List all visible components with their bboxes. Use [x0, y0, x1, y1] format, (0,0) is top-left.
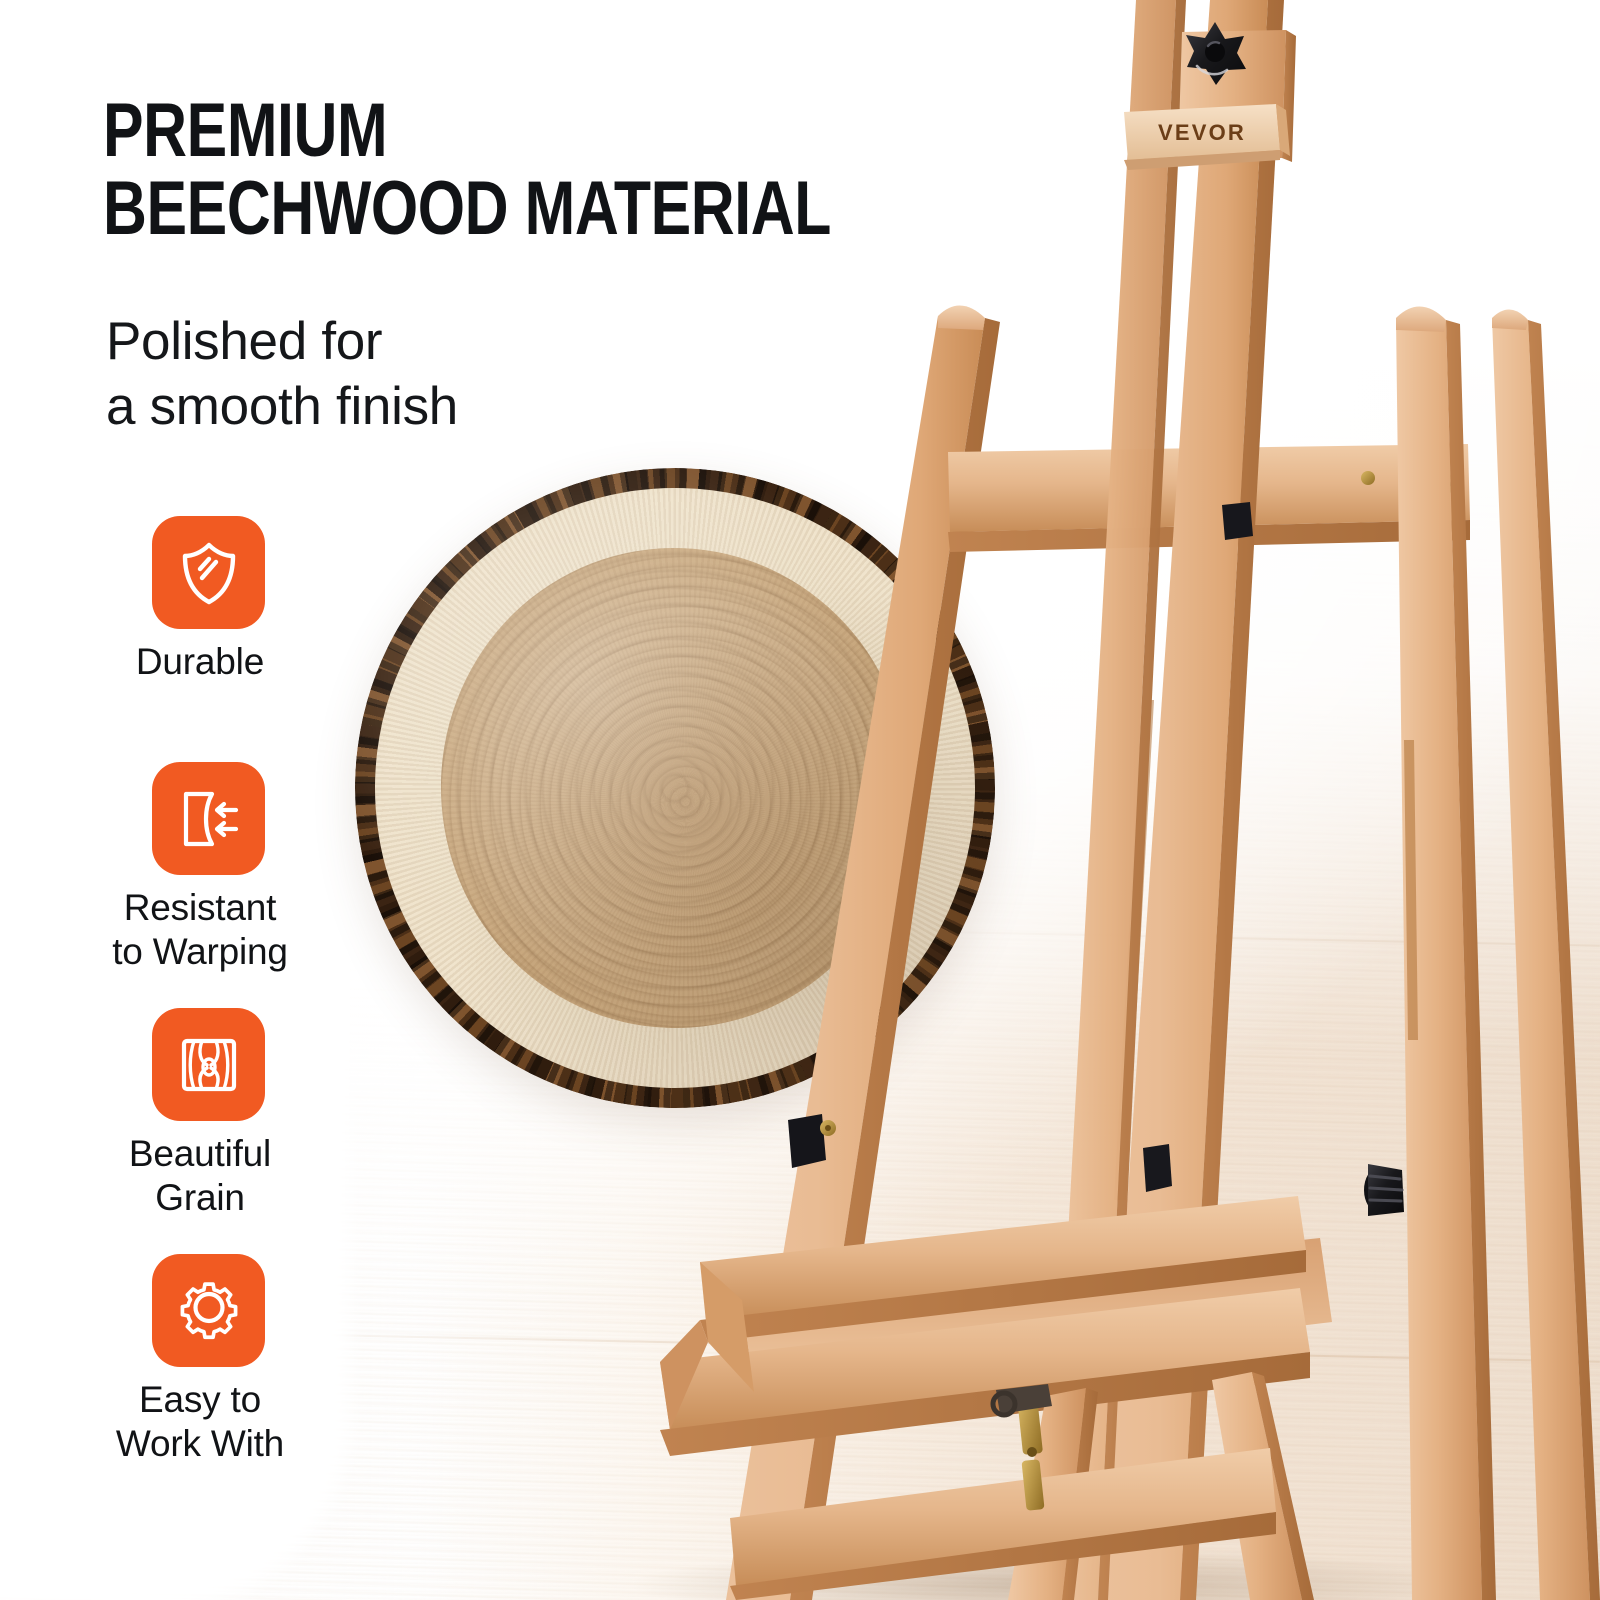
headline: PREMIUM BEECHWOOD MATERIAL — [103, 92, 831, 247]
wood-grain-icon-badge — [152, 1008, 265, 1121]
feature-item-durable: Durable — [0, 516, 400, 762]
warp-plank-icon — [174, 784, 244, 854]
right-side-knob — [1364, 1164, 1404, 1216]
shield-icon — [174, 538, 244, 608]
feature-label: Durable — [0, 640, 400, 684]
subheadline: Polished for a smooth finish — [106, 310, 458, 439]
post-screw — [1361, 471, 1375, 485]
feature-label: Resistant to Warping — [0, 886, 400, 975]
feature-label: Easy to Work With — [0, 1378, 400, 1467]
vevor-logo-text: VEVOR — [1158, 120, 1246, 145]
feature-item-resistant-to-warping: Resistant to Warping — [0, 762, 400, 1008]
crossbar-clip — [1222, 502, 1253, 540]
wood-grain-icon — [174, 1030, 244, 1100]
feature-list: Durable Resistant to Warping — [0, 516, 400, 1500]
feature-item-easy-to-work-with: Easy to Work With — [0, 1254, 400, 1500]
feature-label: Beautiful Grain — [0, 1132, 400, 1221]
product-hero-image: VEVOR — [0, 0, 1600, 1600]
easel-right-post — [1396, 306, 1496, 1600]
warp-plank-icon-badge — [152, 762, 265, 875]
feature-item-beautiful-grain: Beautiful Grain — [0, 1008, 400, 1254]
shield-icon-badge — [152, 516, 265, 629]
mast-clip-lower — [1143, 1144, 1172, 1192]
vevor-brand-plate: VEVOR — [1124, 104, 1290, 170]
easel-rear-leg — [1492, 309, 1600, 1600]
mast-clip — [788, 1114, 826, 1168]
gear-icon — [174, 1276, 244, 1346]
gear-icon-badge — [152, 1254, 265, 1367]
